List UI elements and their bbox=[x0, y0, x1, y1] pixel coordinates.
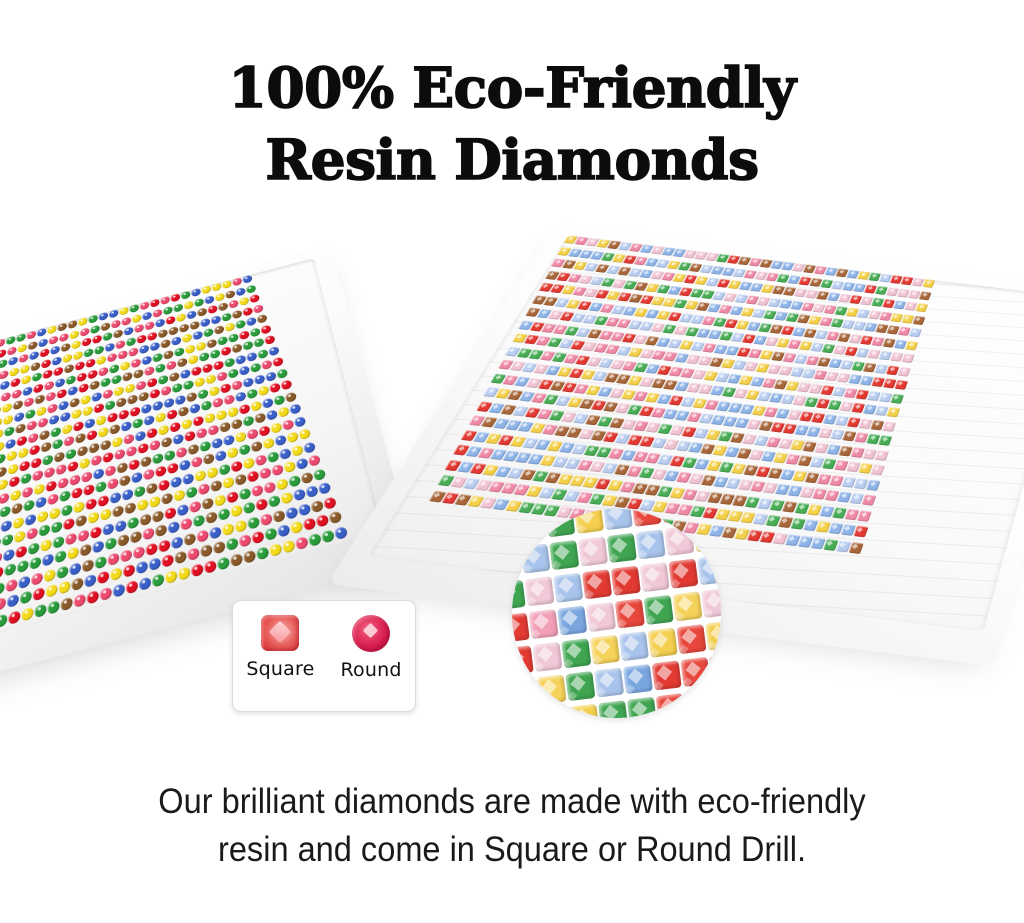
drill-bead bbox=[75, 432, 86, 444]
drill-bead bbox=[161, 436, 173, 448]
drill-bead bbox=[208, 385, 220, 396]
drill-bead bbox=[169, 421, 180, 433]
drill-bead bbox=[163, 305, 173, 315]
drill-bead bbox=[144, 366, 155, 377]
drill-bead bbox=[303, 441, 316, 454]
drill-bead bbox=[71, 577, 83, 592]
drill-bead bbox=[18, 447, 29, 459]
drill-bead bbox=[110, 567, 122, 582]
drill-bead bbox=[171, 336, 182, 346]
drill-bead bbox=[267, 450, 280, 463]
drill-bead bbox=[148, 557, 161, 571]
drill-bead bbox=[30, 361, 40, 371]
drill-bead bbox=[195, 341, 206, 352]
drill-bead bbox=[136, 334, 146, 344]
drill-bead bbox=[69, 397, 79, 408]
drill-bead bbox=[155, 412, 166, 424]
magnified-drill-bead bbox=[672, 591, 702, 621]
drill-bead bbox=[161, 492, 173, 505]
drill-bead bbox=[189, 403, 200, 415]
drill-bead bbox=[230, 552, 243, 567]
drill-bead bbox=[119, 474, 130, 487]
drill-bead bbox=[128, 458, 139, 470]
magnified-drill-bead bbox=[590, 635, 620, 665]
drill-bead bbox=[152, 452, 164, 464]
magnified-drill-bead bbox=[528, 609, 558, 639]
drill-bead bbox=[113, 329, 123, 339]
drill-bead bbox=[31, 457, 42, 469]
drill-bead bbox=[857, 510, 872, 522]
drill-bead bbox=[115, 339, 125, 349]
drill-bead bbox=[242, 340, 253, 351]
drill-bead bbox=[119, 306, 129, 316]
drill-bead bbox=[25, 408, 35, 419]
drill-bead bbox=[223, 394, 235, 406]
drill-bead bbox=[0, 466, 7, 478]
drill-bead bbox=[264, 527, 278, 541]
drill-bead bbox=[198, 483, 210, 496]
drill-bead bbox=[117, 533, 129, 547]
drill-bead bbox=[256, 545, 270, 560]
magnified-drill-bead bbox=[648, 628, 678, 658]
drill-bead bbox=[242, 306, 253, 316]
drill-bead bbox=[107, 477, 118, 490]
magnified-drill-bead bbox=[701, 588, 721, 618]
drill-bead bbox=[205, 511, 218, 525]
drill-bead bbox=[95, 480, 106, 493]
magnified-drill-bead bbox=[512, 711, 542, 718]
magnified-drill-bead bbox=[632, 509, 662, 527]
drill-bead bbox=[131, 471, 143, 484]
drill-bead bbox=[89, 442, 100, 454]
tray-inner-round bbox=[0, 258, 383, 656]
drill-bead bbox=[64, 435, 75, 447]
drill-bead bbox=[328, 510, 342, 524]
magnified-drill-bead bbox=[512, 678, 538, 708]
drill-bead bbox=[47, 402, 57, 413]
drill-bead bbox=[211, 282, 221, 292]
drill-bead bbox=[181, 418, 193, 430]
drill-bead bbox=[42, 553, 54, 567]
drill-bead bbox=[265, 371, 277, 382]
drill-bead bbox=[272, 356, 284, 367]
drill-bead bbox=[183, 300, 193, 310]
drill-bead bbox=[277, 524, 291, 538]
drill-bead bbox=[277, 406, 289, 418]
drill-bead bbox=[231, 379, 243, 390]
drill-bead bbox=[23, 499, 34, 512]
drill-bead bbox=[224, 357, 235, 368]
drill-bead bbox=[143, 415, 154, 427]
drill-bead bbox=[57, 476, 68, 489]
drill-bead bbox=[280, 379, 292, 390]
drill-bead bbox=[898, 366, 912, 376]
drill-bead bbox=[44, 568, 56, 582]
drill-bead bbox=[257, 348, 269, 359]
drill-bead bbox=[18, 353, 28, 363]
drill-bead bbox=[24, 397, 34, 408]
drill-bead bbox=[224, 322, 235, 332]
drill-bead bbox=[908, 328, 921, 338]
drill-bead bbox=[11, 502, 22, 515]
drill-bead bbox=[249, 327, 260, 337]
legend-item-round[interactable]: Round bbox=[340, 615, 401, 681]
drill-bead bbox=[225, 289, 236, 299]
magnified-drill-bead bbox=[549, 540, 579, 570]
drill-bead bbox=[261, 359, 273, 370]
magnified-drill-bead bbox=[656, 693, 686, 718]
drill-bead bbox=[133, 368, 144, 379]
drill-bead bbox=[191, 288, 201, 298]
drill-bead bbox=[77, 371, 87, 382]
drill-bead bbox=[253, 304, 264, 314]
drill-bead bbox=[215, 409, 227, 421]
drill-bead bbox=[51, 520, 62, 533]
drill-bead bbox=[293, 415, 306, 427]
drill-bead bbox=[207, 304, 218, 314]
drill-bead bbox=[128, 347, 138, 357]
drill-bead bbox=[176, 503, 188, 516]
drill-bead bbox=[231, 343, 242, 354]
drill-bead bbox=[202, 362, 213, 373]
drill-bead bbox=[29, 556, 41, 570]
drill-bead bbox=[65, 448, 76, 460]
drill-bead bbox=[102, 451, 113, 463]
magnified-drill-bead bbox=[668, 559, 698, 589]
drill-bead bbox=[302, 517, 316, 531]
drill-bead bbox=[7, 593, 19, 608]
drill-bead bbox=[83, 484, 94, 497]
drill-bead bbox=[139, 512, 151, 526]
drill-bead bbox=[92, 334, 102, 344]
drill-bead bbox=[232, 277, 243, 287]
drill-bead bbox=[109, 309, 119, 319]
drill-bead bbox=[138, 391, 149, 402]
drill-bead bbox=[71, 408, 81, 419]
legend-items: Square Round bbox=[233, 601, 415, 711]
drill-bead bbox=[60, 411, 70, 422]
drill-bead bbox=[77, 445, 88, 457]
drill-bead bbox=[32, 469, 43, 481]
drill-bead bbox=[123, 433, 134, 445]
drill-bead bbox=[96, 414, 107, 426]
drill-bead bbox=[188, 354, 199, 365]
drill-bead bbox=[40, 538, 52, 552]
drill-bead bbox=[180, 290, 190, 300]
drill-bead bbox=[228, 299, 239, 309]
magnified-drill-bead bbox=[565, 671, 595, 701]
drill-bead bbox=[219, 421, 231, 433]
drill-bead bbox=[7, 463, 18, 475]
drill-bead bbox=[251, 484, 264, 497]
legend-label-round: Round bbox=[340, 659, 401, 681]
drill-bead bbox=[291, 444, 304, 457]
drill-bead bbox=[47, 493, 58, 506]
drill-bead bbox=[286, 431, 299, 443]
drill-bead bbox=[235, 354, 246, 365]
drill-bead bbox=[179, 459, 191, 472]
drill-bead bbox=[259, 467, 272, 480]
drill-bead bbox=[73, 500, 84, 513]
drill-bead bbox=[53, 366, 63, 377]
drill-bead bbox=[98, 426, 109, 438]
drill-bead bbox=[100, 439, 111, 451]
drill-bead bbox=[134, 323, 144, 333]
drill-bead bbox=[140, 455, 151, 467]
drill-bead bbox=[3, 548, 15, 562]
drill-bead bbox=[22, 486, 33, 499]
drill-bead bbox=[82, 558, 94, 572]
legend-item-square[interactable]: Square bbox=[246, 615, 314, 680]
drill-bead bbox=[890, 393, 904, 403]
drill-bead bbox=[96, 355, 106, 366]
drill-bead bbox=[102, 388, 112, 399]
drill-bead bbox=[245, 284, 256, 294]
drill-bead bbox=[242, 274, 253, 283]
drill-bead bbox=[105, 342, 115, 352]
drill-bead bbox=[134, 485, 146, 498]
drill-bead bbox=[246, 351, 258, 362]
drill-bead bbox=[32, 372, 42, 383]
drill-bead bbox=[136, 380, 147, 391]
drill-bead bbox=[168, 325, 178, 335]
drill-bead bbox=[114, 448, 125, 460]
drill-bead bbox=[137, 442, 148, 454]
drill-type-legend: Square Round bbox=[232, 600, 416, 712]
drill-bead bbox=[15, 544, 27, 558]
drill-bead bbox=[218, 302, 229, 312]
drill-bead bbox=[110, 491, 121, 504]
drill-bead bbox=[58, 400, 68, 411]
drill-bead bbox=[66, 374, 76, 385]
magnified-drill-bead bbox=[603, 509, 633, 530]
drill-bead bbox=[90, 324, 100, 334]
drill-bead bbox=[105, 400, 116, 411]
drill-bead bbox=[204, 559, 217, 574]
drill-bead bbox=[0, 441, 5, 453]
drill-bead bbox=[157, 328, 167, 338]
drill-bead bbox=[870, 464, 885, 475]
drill-bead bbox=[184, 430, 196, 442]
drill-bead bbox=[56, 463, 67, 475]
drill-bead bbox=[297, 502, 311, 516]
drill-bead bbox=[173, 303, 183, 313]
drill-bead bbox=[198, 352, 209, 363]
drill-bead bbox=[123, 563, 135, 578]
caption-text: Our brilliant diamonds are made with eco… bbox=[36, 778, 988, 874]
magnified-drill-bead bbox=[520, 544, 550, 574]
drill-bead bbox=[67, 546, 79, 560]
drill-bead bbox=[80, 327, 90, 337]
drill-bead bbox=[894, 380, 908, 390]
drill-bead bbox=[158, 374, 169, 385]
magnified-drill-bead bbox=[512, 580, 526, 610]
drill-bead bbox=[68, 319, 77, 329]
drill-bead bbox=[107, 551, 119, 565]
drill-bead bbox=[321, 529, 335, 543]
drill-bead bbox=[204, 412, 216, 424]
drill-bead bbox=[61, 503, 72, 516]
drill-bead bbox=[253, 337, 264, 348]
drill-bead bbox=[79, 457, 90, 469]
magnified-drill-bead bbox=[644, 595, 674, 625]
drill-bead bbox=[180, 517, 193, 531]
drill-bead bbox=[308, 454, 321, 467]
drill-bead bbox=[310, 499, 324, 513]
drill-bead bbox=[221, 280, 232, 290]
drill-bead bbox=[4, 562, 16, 576]
drill-bead bbox=[185, 344, 196, 355]
drill-bead bbox=[36, 405, 46, 416]
magnified-drill-bead bbox=[533, 642, 563, 672]
drill-bead bbox=[266, 409, 278, 421]
drill-bead bbox=[155, 524, 167, 538]
drill-bead bbox=[169, 371, 180, 382]
drill-bead bbox=[100, 586, 112, 601]
drill-bead bbox=[182, 333, 193, 343]
drill-bead bbox=[131, 358, 141, 369]
drill-bead bbox=[19, 460, 30, 472]
drill-bead bbox=[250, 400, 262, 412]
drill-bead bbox=[275, 477, 288, 490]
drill-bead bbox=[152, 572, 165, 587]
magnified-drill-bead bbox=[598, 700, 628, 718]
drill-bead bbox=[146, 427, 157, 439]
drill-bead bbox=[61, 342, 71, 352]
drill-bead bbox=[313, 468, 327, 481]
drill-bead bbox=[98, 366, 108, 377]
magnified-drill-bead bbox=[697, 555, 721, 585]
drill-bead bbox=[210, 315, 221, 325]
caption-line-1: Our brilliant diamonds are made with eco… bbox=[158, 782, 865, 821]
drill-bead bbox=[285, 391, 297, 403]
drill-bead bbox=[139, 576, 152, 591]
drill-bead bbox=[109, 423, 120, 435]
drill-bead bbox=[75, 514, 86, 527]
drill-bead bbox=[141, 403, 152, 414]
drill-bead bbox=[41, 441, 52, 453]
drill-bead bbox=[29, 444, 40, 456]
headline-line-2: Resin Diamonds bbox=[0, 124, 1024, 196]
drill-bead bbox=[16, 435, 27, 447]
magnified-drill-bead bbox=[607, 533, 637, 563]
magnified-drill-bead bbox=[582, 569, 612, 599]
drill-bead bbox=[14, 530, 26, 544]
drill-bead bbox=[29, 350, 39, 360]
drill-bead bbox=[28, 340, 38, 350]
drill-bead bbox=[196, 427, 208, 439]
drill-bead bbox=[64, 363, 74, 374]
drill-bead bbox=[88, 511, 99, 524]
drill-bead bbox=[61, 596, 73, 611]
drill-bead bbox=[145, 542, 157, 556]
drill-bead bbox=[126, 579, 139, 594]
drill-bead bbox=[191, 365, 202, 376]
drill-bead bbox=[234, 473, 247, 486]
drill-bead bbox=[113, 385, 124, 396]
drill-bead bbox=[39, 429, 50, 441]
drill-bead bbox=[89, 380, 99, 391]
drill-bead bbox=[85, 497, 96, 510]
drill-bead bbox=[155, 363, 166, 374]
drill-bead bbox=[59, 332, 69, 342]
drill-bead bbox=[886, 407, 900, 418]
drill-bead bbox=[28, 432, 39, 444]
drill-bead bbox=[217, 335, 228, 345]
drill-bead bbox=[11, 388, 21, 399]
magnified-drill-bead bbox=[660, 509, 690, 523]
drill-bead bbox=[59, 490, 70, 503]
drill-bead bbox=[0, 348, 6, 358]
drill-bead bbox=[315, 514, 329, 528]
round-gem-icon bbox=[352, 615, 390, 652]
drill-bead bbox=[246, 470, 259, 483]
magnified-drill-bead bbox=[557, 606, 587, 636]
magnified-drill-bead bbox=[693, 522, 721, 552]
drill-bead bbox=[282, 418, 295, 430]
drill-bead bbox=[276, 368, 288, 379]
drill-bead bbox=[234, 431, 246, 443]
magnified-drill-bead bbox=[545, 509, 575, 537]
drill-bead bbox=[10, 489, 21, 502]
magnified-drill-bead bbox=[512, 645, 534, 675]
magnified-drill-bead bbox=[623, 664, 653, 694]
drill-bead bbox=[874, 449, 889, 460]
drill-bead bbox=[293, 488, 307, 501]
drill-bead bbox=[227, 368, 239, 379]
drill-bead bbox=[0, 519, 12, 532]
magnified-drill-bead bbox=[684, 690, 714, 718]
drill-bead bbox=[150, 298, 160, 308]
drill-bead bbox=[42, 369, 52, 380]
drill-bead bbox=[235, 319, 246, 329]
drill-bead bbox=[160, 385, 171, 396]
drill-bead bbox=[158, 424, 169, 436]
drill-bead bbox=[158, 538, 171, 552]
drill-bead bbox=[254, 453, 267, 466]
drill-bead bbox=[178, 406, 189, 418]
drill-bead bbox=[9, 366, 19, 376]
drill-bead bbox=[165, 569, 178, 584]
drill-bead bbox=[68, 385, 78, 396]
drill-bead bbox=[239, 296, 250, 306]
drill-bead bbox=[227, 406, 239, 418]
round-drill-grid bbox=[0, 258, 383, 656]
drill-bead bbox=[37, 327, 47, 337]
drill-bead bbox=[186, 310, 197, 320]
drill-bead bbox=[111, 374, 121, 385]
drill-bead bbox=[298, 428, 311, 440]
drill-bead bbox=[249, 294, 260, 304]
drill-bead bbox=[214, 493, 227, 506]
drill-bead bbox=[113, 582, 125, 597]
drill-bead bbox=[133, 545, 145, 559]
drill-bead bbox=[112, 505, 124, 518]
drill-bead bbox=[211, 437, 223, 449]
drill-bead bbox=[209, 349, 220, 360]
drill-bead bbox=[57, 388, 67, 399]
drill-bead bbox=[73, 350, 83, 360]
drill-bead bbox=[0, 505, 11, 518]
drill-bead bbox=[172, 433, 184, 445]
drill-bead bbox=[213, 540, 226, 554]
drill-bead bbox=[118, 408, 129, 420]
drill-bead bbox=[246, 388, 258, 399]
drill-bead bbox=[258, 424, 270, 436]
magnified-drill-bead bbox=[680, 657, 710, 687]
drill-bead bbox=[78, 383, 88, 394]
drill-bead bbox=[260, 324, 271, 334]
